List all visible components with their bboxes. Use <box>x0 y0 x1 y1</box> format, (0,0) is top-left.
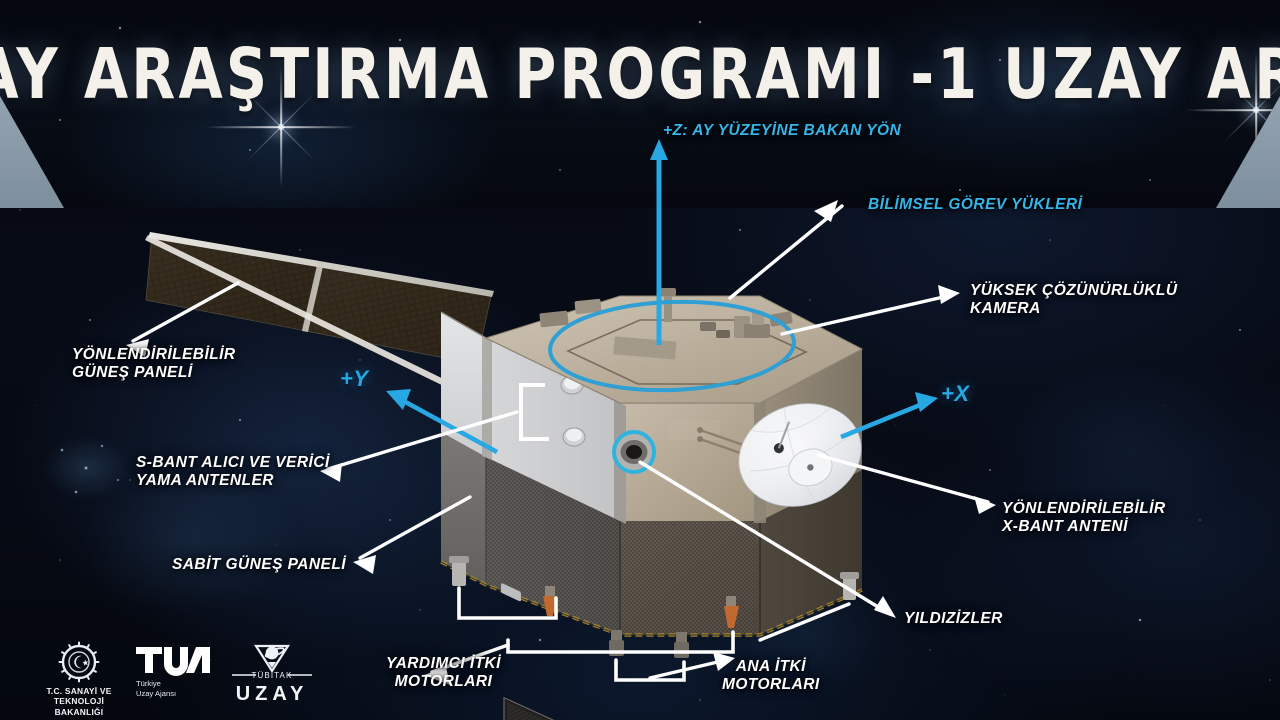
label-y-axis: +Y <box>340 366 369 392</box>
logo-bar: T.C. SANAYİ VE TEKNOLOJİ BAKANLIĞI Türki… <box>30 645 320 713</box>
label-scientific-payloads: BİLİMSEL GÖREV YÜKLERİ <box>868 196 1082 214</box>
logo-tubitak-uzay: TÜBİTAK UZAY <box>226 645 318 706</box>
logo-ministry-caption: T.C. SANAYİ VE TEKNOLOJİ BAKANLIĞI <box>30 686 128 717</box>
turkish-star-gear-icon <box>30 645 128 683</box>
tubitak-text: TÜBİTAK <box>252 671 293 680</box>
label-high-resolution-camera: YÜKSEK ÇÖZÜNÜRLÜKLÜ KAMERA <box>970 282 1177 319</box>
logo-tua-caption: Türkiye Uzay Ajansı <box>136 679 212 699</box>
tua-wordmark-icon <box>136 647 210 675</box>
label-star-trackers: YILDIZİZLER <box>904 610 1003 628</box>
star-tracker-1 <box>700 322 716 331</box>
y-axis-arrowhead <box>386 389 411 410</box>
label-z-axis: +Z: AY YÜZEYİNE BAKAN YÖN <box>663 122 901 140</box>
payload-box-1 <box>539 311 568 328</box>
label-x-axis: +X <box>941 381 970 407</box>
label-s-band-patch-antennas: S-BANT ALICI VE VERİCİ YAMA ANTENLER <box>136 454 330 491</box>
label-steerable-x-band-antenna: YÖNLENDİRİLEBİLİR X-BANT ANTENİ <box>1002 500 1166 537</box>
z-axis-arrowhead <box>650 139 668 160</box>
leader-scientific-payloads <box>730 200 842 298</box>
label-main-thrusters: ANA İTKİ MOTORLARI <box>722 658 820 695</box>
main-thruster-2 <box>609 630 624 660</box>
tubitak-uzay-emblem-icon: TÜBİTAK <box>226 645 318 681</box>
infographic-canvas: AY ARAŞTIRMA PROGRAMI -1 UZAY ARACI <box>0 0 1280 720</box>
label-fixed-solar-panel: SABİT GÜNEŞ PANELİ <box>172 556 346 574</box>
logo-ministry: T.C. SANAYİ VE TEKNOLOJİ BAKANLIĞI <box>30 645 128 717</box>
logo-tua: Türkiye Uzay Ajansı <box>136 647 212 699</box>
logo-uzay-wordmark: UZAY <box>226 682 318 706</box>
label-steerable-solar-panel: YÖNLENDİRİLEBİLİR GÜNEŞ PANELİ <box>72 346 236 383</box>
main-thruster-3 <box>674 632 689 658</box>
auxiliary-thruster-left <box>449 556 469 586</box>
leader-high-resolution-camera <box>782 285 960 334</box>
label-auxiliary-thrusters: YARDIMCI İTKİ MOTORLARI <box>386 655 501 692</box>
x-axis-arrowhead <box>915 392 938 412</box>
star-tracker-2 <box>716 330 730 338</box>
